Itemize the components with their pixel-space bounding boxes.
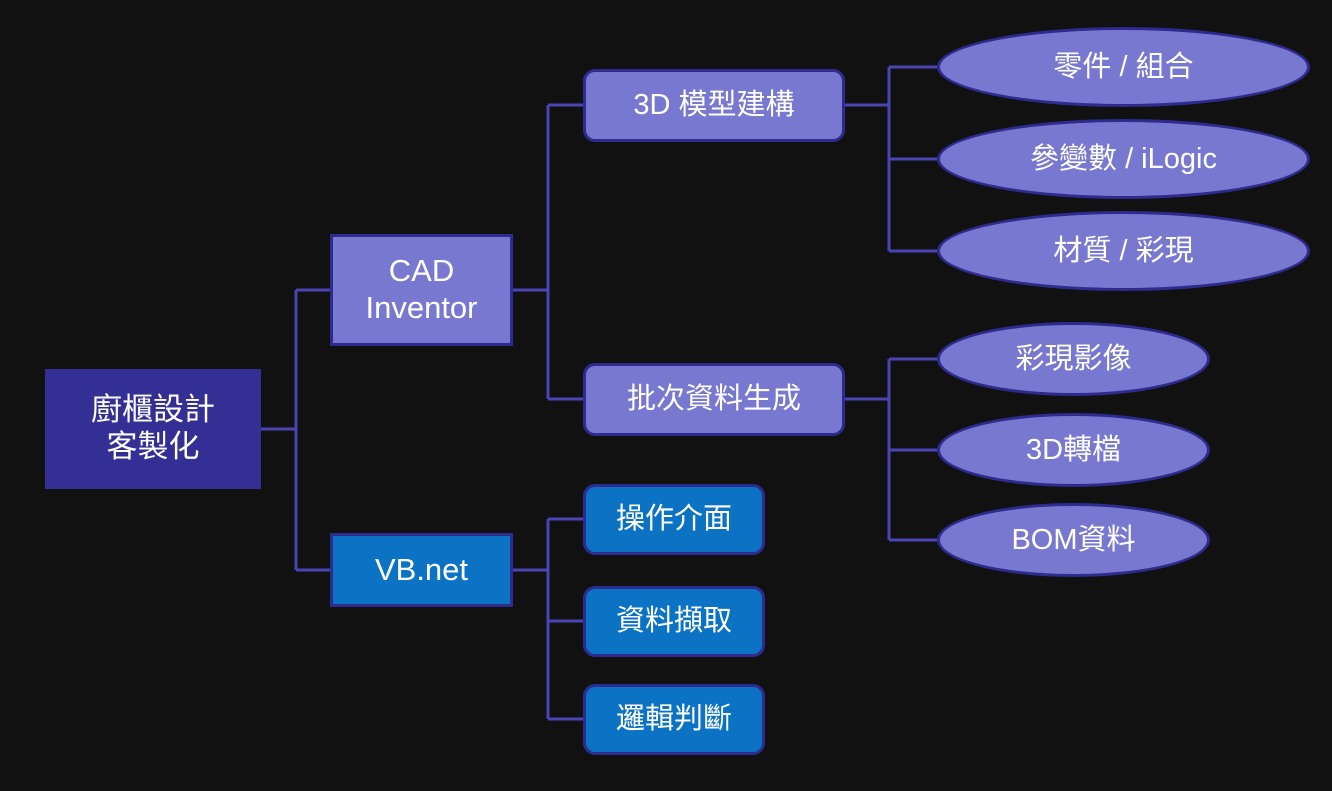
node-parameters-ilogic[interactable]: 參變數 / iLogic bbox=[937, 119, 1310, 199]
diagram-canvas: 廚櫃設計 客製化 CAD Inventor VB.net 3D 模型建構 批次資… bbox=[0, 0, 1332, 791]
node-bom-data[interactable]: BOM資料 bbox=[937, 503, 1210, 577]
node-vbnet[interactable]: VB.net bbox=[330, 533, 513, 607]
node-rendered-image[interactable]: 彩現影像 bbox=[937, 322, 1210, 396]
node-parts-assembly[interactable]: 零件 / 組合 bbox=[937, 27, 1310, 107]
node-data-extraction[interactable]: 資料擷取 bbox=[583, 586, 765, 657]
node-logic-judgment[interactable]: 邏輯判斷 bbox=[583, 684, 765, 755]
node-user-interface[interactable]: 操作介面 bbox=[583, 484, 765, 555]
node-root[interactable]: 廚櫃設計 客製化 bbox=[45, 369, 261, 489]
node-material-rendering[interactable]: 材質 / 彩現 bbox=[937, 211, 1310, 291]
node-batch-data-generation[interactable]: 批次資料生成 bbox=[583, 363, 845, 436]
node-3d-model-build[interactable]: 3D 模型建構 bbox=[583, 69, 845, 142]
node-3d-file-conversion[interactable]: 3D轉檔 bbox=[937, 413, 1210, 487]
node-cad-inventor[interactable]: CAD Inventor bbox=[330, 234, 513, 346]
